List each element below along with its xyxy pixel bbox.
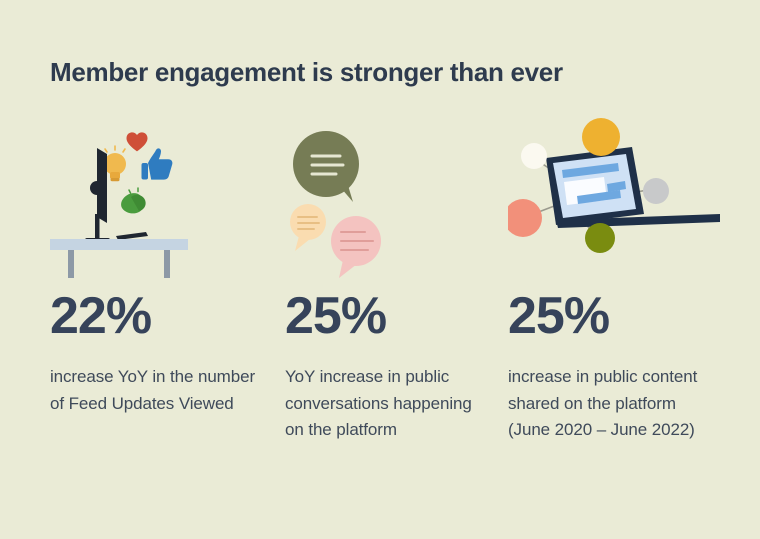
laptop-screen-icon [546, 147, 720, 228]
slide-canvas: Member engagement is stronger than ever [0, 0, 760, 539]
desk-monitor-reactions-illustration [50, 118, 265, 278]
network-node-amber-icon [582, 118, 620, 156]
heart-reaction-icon [127, 132, 148, 151]
network-node-cream-icon [521, 143, 547, 169]
keyboard-icon [116, 232, 148, 240]
clap-reaction-icon [121, 188, 146, 213]
speech-bubble-large-olive-icon [293, 131, 359, 202]
lightbulb-reaction-icon [104, 146, 126, 181]
stat-column-feed-updates: 22% increase YoY in the number of Feed U… [50, 118, 265, 417]
stat-description: YoY increase in public conversations hap… [285, 364, 485, 444]
speech-bubble-small-peach-icon [290, 204, 326, 251]
speech-bubble-medium-pink-icon [331, 216, 381, 278]
page-title: Member engagement is stronger than ever [50, 57, 563, 88]
stat-value: 22% [50, 290, 265, 342]
thumbs-up-reaction-icon [142, 148, 173, 179]
speech-bubbles-illustration [285, 118, 485, 278]
stat-value: 25% [508, 290, 720, 342]
network-node-coral-icon [508, 199, 542, 237]
stat-description: increase in public content shared on the… [508, 364, 720, 444]
stat-column-conversations: 25% YoY increase in public conversations… [285, 118, 485, 444]
network-node-gray-icon [643, 178, 669, 204]
stat-value: 25% [285, 290, 485, 342]
stat-description: increase YoY in the number of Feed Updat… [50, 364, 265, 417]
monitor-icon [85, 148, 110, 242]
stat-column-public-content: 25% increase in public content shared on… [508, 118, 720, 444]
desk-icon [50, 239, 188, 278]
network-node-olive-icon [585, 223, 615, 253]
network-laptop-illustration [508, 118, 720, 278]
